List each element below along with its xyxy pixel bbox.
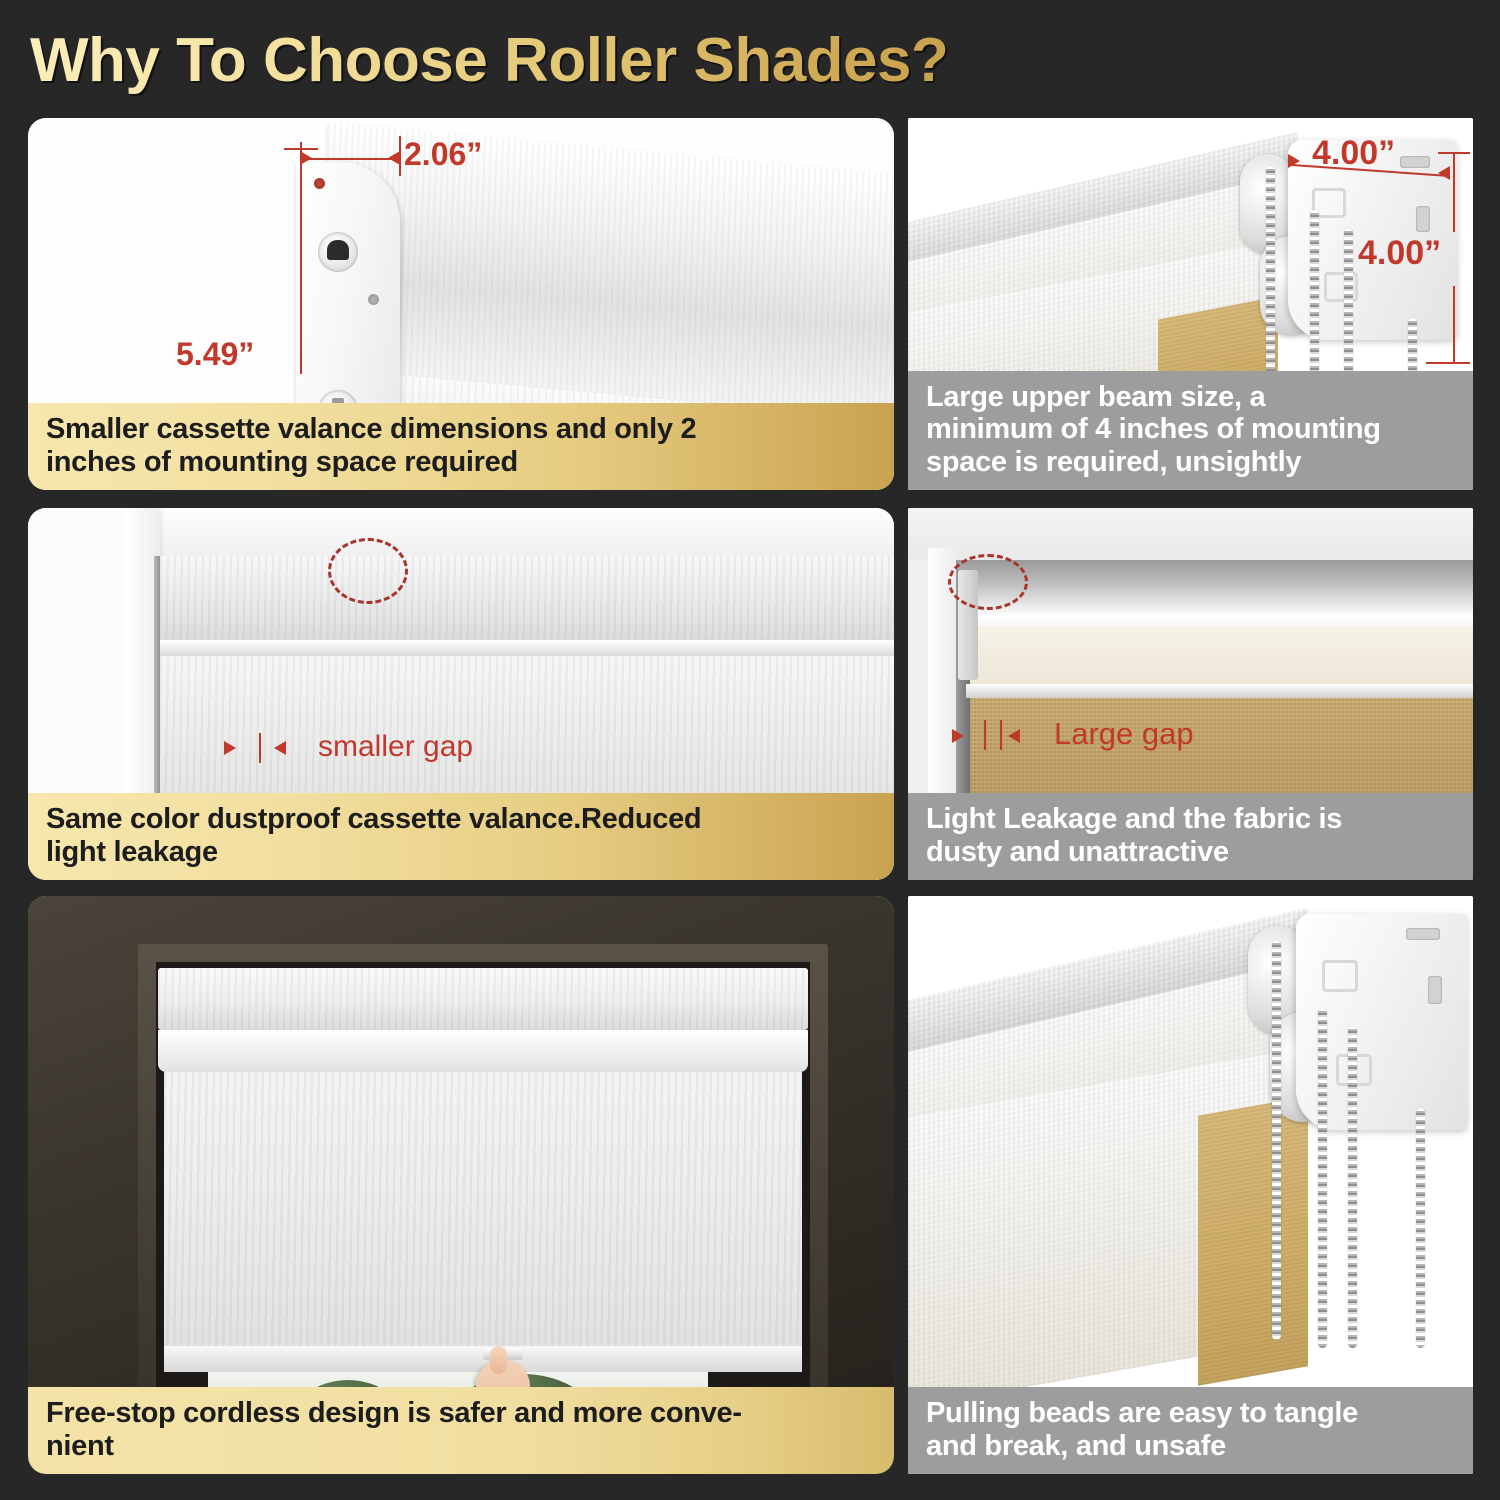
bead-chain	[1318, 1008, 1327, 1348]
caption-line: Smaller cassette valance dimensions and …	[46, 413, 880, 445]
caption-line: minimum of 4 inches of mounting	[926, 413, 1459, 445]
panel-con-beam-size: 4.00” 4.00” Large upper beam size, a min…	[908, 118, 1473, 490]
caption-con-beaded-chain: Pulling beads are easy to tangle and bre…	[908, 1387, 1473, 1474]
panel-pro-light-gap: smaller gap Same color dustproof cassett…	[28, 508, 894, 880]
height-dimension-label: 4.00”	[1358, 234, 1441, 273]
caption-con-light-leak: Light Leakage and the fabric is dusty an…	[908, 793, 1473, 880]
bead-chain	[1272, 940, 1281, 1340]
caption-pro-cordless: Free-stop cordless design is safer and m…	[28, 1387, 894, 1474]
panel-pro-cassette-size: 2.06” 5.49” Smaller cassette valance dim…	[28, 118, 894, 490]
shade-fabric-shape	[160, 656, 894, 806]
width-dimension-label: 2.06”	[404, 136, 482, 173]
gap-arrow-left	[224, 741, 236, 755]
caption-line: space is required, unsightly	[926, 446, 1459, 478]
width-dimension-label: 4.00”	[1312, 134, 1395, 173]
gap-arrow-right	[1008, 729, 1020, 743]
gap-arrow-left	[952, 729, 964, 743]
highlight-circle	[948, 554, 1028, 610]
caption-line: and break, and unsafe	[926, 1430, 1459, 1462]
height-dimension-line-lower	[1453, 286, 1455, 364]
width-dimension-arrow-left	[1288, 154, 1300, 168]
caption-line: Large upper beam size, a	[926, 381, 1459, 413]
caption-line: dusty and unattractive	[926, 836, 1459, 868]
panel-con-light-leak: Large gap Light Leakage and the fabric i…	[908, 508, 1473, 880]
shade-fabric-shape	[164, 1072, 802, 1372]
width-dimension-arrow-right	[1438, 166, 1450, 180]
bead-chain	[1348, 1026, 1357, 1348]
caption-line: Same color dustproof cassette valance.Re…	[46, 803, 880, 835]
caption-line: inches of mounting space required	[46, 446, 880, 478]
caption-line: light leakage	[46, 836, 880, 868]
width-dimension-line	[300, 158, 400, 160]
caption-line: nient	[46, 1430, 880, 1462]
caption-con-beam-size: Large upper beam size, a minimum of 4 in…	[908, 371, 1473, 490]
bead-chain	[1416, 1108, 1425, 1348]
caption-pro-cassette-size: Smaller cassette valance dimensions and …	[28, 403, 894, 490]
caption-line: Pulling beads are easy to tangle	[926, 1397, 1459, 1429]
cassette-valance-shape	[158, 968, 808, 1030]
gap-callout-label: Large gap	[1054, 716, 1194, 752]
page-title: Why To Choose Roller Shades?	[30, 22, 1060, 100]
height-dimension-label: 5.49”	[176, 336, 254, 373]
caption-pro-light-gap: Same color dustproof cassette valance.Re…	[28, 793, 894, 880]
caption-line: Free-stop cordless design is safer and m…	[46, 1397, 880, 1429]
cassette-valance-shape	[160, 556, 894, 640]
panel-pro-cordless: Free-stop cordless design is safer and m…	[28, 896, 894, 1474]
height-dimension-line-upper	[1453, 152, 1455, 232]
caption-line: Light Leakage and the fabric is	[926, 803, 1459, 835]
height-dimension-line-upper	[300, 148, 302, 374]
panel-con-beaded-chain: Pulling beads are easy to tangle and bre…	[908, 896, 1473, 1474]
highlight-circle	[328, 538, 408, 604]
gap-arrow-right	[274, 741, 286, 755]
gap-callout-label: smaller gap	[318, 730, 473, 764]
